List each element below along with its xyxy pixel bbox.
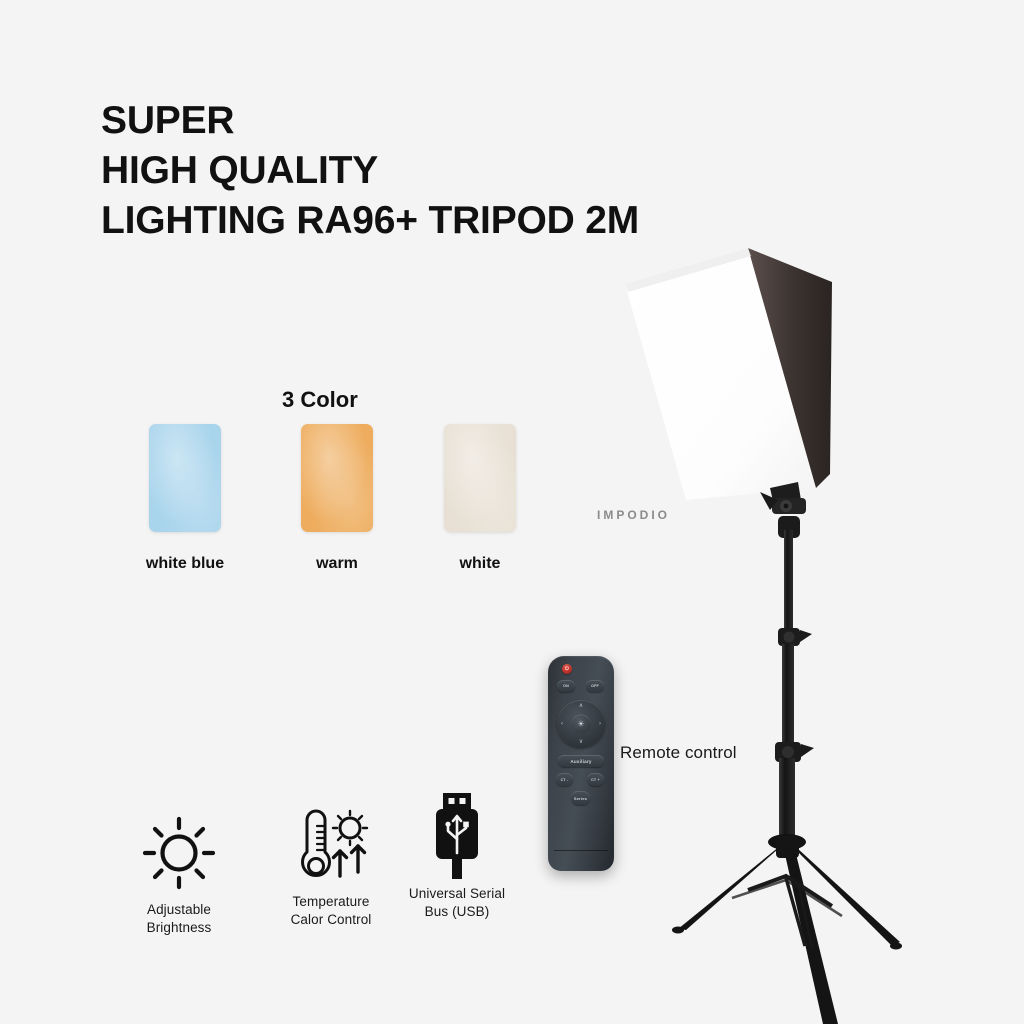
remote-power-button[interactable]: ⏻ (562, 664, 572, 674)
usb-icon (382, 798, 532, 876)
swatch-label-warm: warm (272, 555, 402, 573)
swatch-label-white: white (415, 555, 545, 573)
feature-line-1: Universal Serial (409, 886, 505, 901)
stand-clamp-upper (778, 628, 812, 646)
feature-line-1: Temperature (293, 894, 370, 909)
tripod-feet (672, 927, 902, 950)
remote-ct-plus-button[interactable]: CT + (587, 773, 604, 786)
feature-line-2: Calor Control (291, 912, 372, 927)
led-light-panel (625, 248, 832, 500)
remote-dpad-right[interactable]: › (599, 721, 601, 727)
swatch-item-white-blue: white blue (120, 424, 250, 573)
tripod-stand (672, 530, 902, 1024)
feature-usb: Universal Serial Bus (USB) (382, 798, 532, 921)
feature-icon-group: Adjustable Brightness (104, 806, 544, 966)
remote-body: ⏻ ON OFF ∧ ∨ ‹ › ☀ Auxiliary CT - CT + S… (548, 656, 614, 871)
remote-dpad-left[interactable]: ‹ (561, 721, 563, 727)
color-section-title: 3 Color (282, 387, 358, 413)
tripod-leg-front (784, 850, 838, 1024)
remote-series-button[interactable]: Series (571, 791, 590, 805)
feature-line-2: Bus (USB) (425, 904, 490, 919)
feature-adjustable-brightness: Adjustable Brightness (104, 814, 254, 937)
headline-line-1: SUPER (101, 96, 721, 146)
pole-mid (782, 644, 794, 750)
remote-on-button[interactable]: ON (557, 680, 575, 692)
product-listing-image: SUPER HIGH QUALITY LIGHTING RA96+ TRIPOD… (0, 0, 1024, 1024)
pole-upper (784, 530, 793, 638)
swatch-white-blue (149, 424, 221, 532)
feature-label-adjustable-brightness: Adjustable Brightness (104, 901, 254, 937)
swatch-label-white-blue: white blue (120, 555, 250, 573)
remote-brightness-button[interactable]: ☀ (572, 715, 591, 734)
feature-label-usb: Universal Serial Bus (USB) (382, 885, 532, 921)
remote-dpad-down[interactable]: ∨ (579, 739, 583, 745)
product-photo (620, 230, 1024, 1024)
tripod-braces (732, 876, 842, 948)
remote-off-button[interactable]: OFF (586, 680, 604, 692)
tripod-legs (678, 842, 900, 1024)
pole-lower (779, 758, 795, 842)
color-swatch-group: white blue warm white (120, 424, 540, 594)
remote-dpad[interactable]: ∧ ∨ ‹ › ☀ (557, 700, 605, 748)
feature-line-2: Brightness (147, 920, 212, 935)
remote-dpad-up[interactable]: ∧ (579, 703, 583, 709)
swatch-warm (301, 424, 373, 532)
remote-auxiliary-button[interactable]: Auxiliary (558, 755, 604, 767)
remote-control: ⏻ ON OFF ∧ ∨ ‹ › ☀ Auxiliary CT - CT + S… (548, 656, 614, 871)
swatch-item-white: white (415, 424, 545, 573)
sun-icon (104, 814, 254, 892)
feature-line-1: Adjustable (147, 902, 211, 917)
swatch-item-warm: warm (272, 424, 402, 573)
swatch-white (444, 424, 516, 532)
remote-ct-minus-button[interactable]: CT - (556, 773, 573, 786)
page-title: SUPER HIGH QUALITY LIGHTING RA96+ TRIPOD… (101, 96, 721, 246)
headline-line-2: HIGH QUALITY (101, 146, 721, 196)
